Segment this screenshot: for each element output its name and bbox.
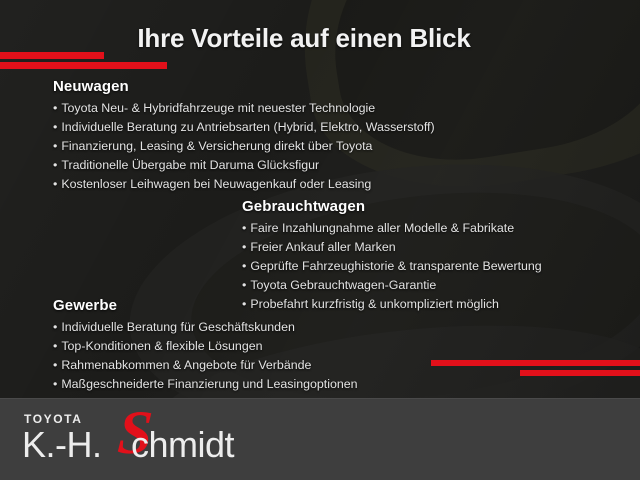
bullet-icon: • (53, 377, 57, 391)
list-item-label: Geprüfte Fahrzeughistorie & transparente… (250, 259, 541, 273)
slide-canvas: Ihre Vorteile auf einen Blick Neuwagen •… (0, 0, 640, 480)
bullet-icon: • (242, 221, 246, 235)
bullet-icon: • (242, 278, 246, 292)
dealer-name: K.-H. S chmidt (22, 426, 234, 464)
bullet-icon: • (53, 158, 57, 172)
bullet-list-gewerbe: •Individuelle Beratung für Geschäftskund… (53, 318, 358, 394)
list-item-label: Toyota Gebrauchtwagen-Garantie (250, 278, 436, 292)
page-title: Ihre Vorteile auf einen Blick (0, 23, 608, 54)
list-item: •Toyota Neu- & Hybridfahrzeuge mit neues… (53, 99, 435, 118)
list-item: •Faire Inzahlungnahme aller Modelle & Fa… (242, 219, 542, 238)
bullet-icon: • (53, 101, 57, 115)
list-item: •Top-Konditionen & flexible Lösungen (53, 337, 358, 356)
bullet-icon: • (242, 240, 246, 254)
section-heading-gebrauchtwagen: Gebrauchtwagen (242, 198, 542, 215)
footer-bar: TOYOTA K.-H. S chmidt G R Center (0, 398, 640, 480)
accent-rule-top-left-2 (0, 62, 167, 69)
list-item: •Kostenloser Leihwagen bei Neuwagenkauf … (53, 175, 435, 194)
list-item: •Rahmenabkommen & Angebote für Verbände (53, 356, 358, 375)
list-item-label: Freier Ankauf aller Marken (250, 240, 395, 254)
section-neuwagen: Neuwagen •Toyota Neu- & Hybridfahrzeuge … (53, 78, 435, 194)
list-item: •Traditionelle Übergabe mit Daruma Glück… (53, 156, 435, 175)
bullet-icon: • (53, 120, 57, 134)
dealer-name-suffix: chmidt (131, 424, 234, 465)
accent-rule-bottom-right-2 (520, 370, 640, 376)
list-item-label: Traditionelle Übergabe mit Daruma Glücks… (61, 158, 319, 172)
list-item-label: Faire Inzahlungnahme aller Modelle & Fab… (250, 221, 514, 235)
list-item-label: Individuelle Beratung für Geschäftskunde… (61, 320, 295, 334)
list-item: •Maßgeschneiderte Finanzierung und Leasi… (53, 375, 358, 394)
list-item-label: Maßgeschneiderte Finanzierung und Leasin… (61, 377, 357, 391)
dealer-logo: TOYOTA K.-H. S chmidt (22, 413, 234, 464)
bullet-icon: • (53, 177, 57, 191)
list-item-label: Toyota Neu- & Hybridfahrzeuge mit neuest… (61, 101, 375, 115)
list-item-label: Kostenloser Leihwagen bei Neuwagenkauf o… (61, 177, 371, 191)
list-item: •Individuelle Beratung zu Antriebsarten … (53, 118, 435, 137)
accent-rule-top-left-1 (0, 52, 104, 59)
list-item: •Freier Ankauf aller Marken (242, 238, 542, 257)
bullet-list-neuwagen: •Toyota Neu- & Hybridfahrzeuge mit neues… (53, 99, 435, 194)
bullet-icon: • (53, 320, 57, 334)
list-item: •Geprüfte Fahrzeughistorie & transparent… (242, 257, 542, 276)
list-item: •Finanzierung, Leasing & Versicherung di… (53, 137, 435, 156)
accent-rule-bottom-right-1 (431, 360, 640, 366)
list-item-label: Top-Konditionen & flexible Lösungen (61, 339, 262, 353)
bullet-icon: • (53, 139, 57, 153)
list-item: •Individuelle Beratung für Geschäftskund… (53, 318, 358, 337)
section-gewerbe: Gewerbe •Individuelle Beratung für Gesch… (53, 297, 358, 394)
list-item-label: Rahmenabkommen & Angebote für Verbände (61, 358, 311, 372)
bullet-icon: • (53, 358, 57, 372)
dealer-name-prefix: K.-H. (22, 424, 102, 465)
list-item-label: Finanzierung, Leasing & Versicherung dir… (61, 139, 372, 153)
bullet-icon: • (242, 259, 246, 273)
bullet-icon: • (53, 339, 57, 353)
list-item: •Toyota Gebrauchtwagen-Garantie (242, 276, 542, 295)
section-heading-gewerbe: Gewerbe (53, 297, 358, 314)
list-item-label: Individuelle Beratung zu Antriebsarten (… (61, 120, 434, 134)
section-heading-neuwagen: Neuwagen (53, 78, 435, 95)
